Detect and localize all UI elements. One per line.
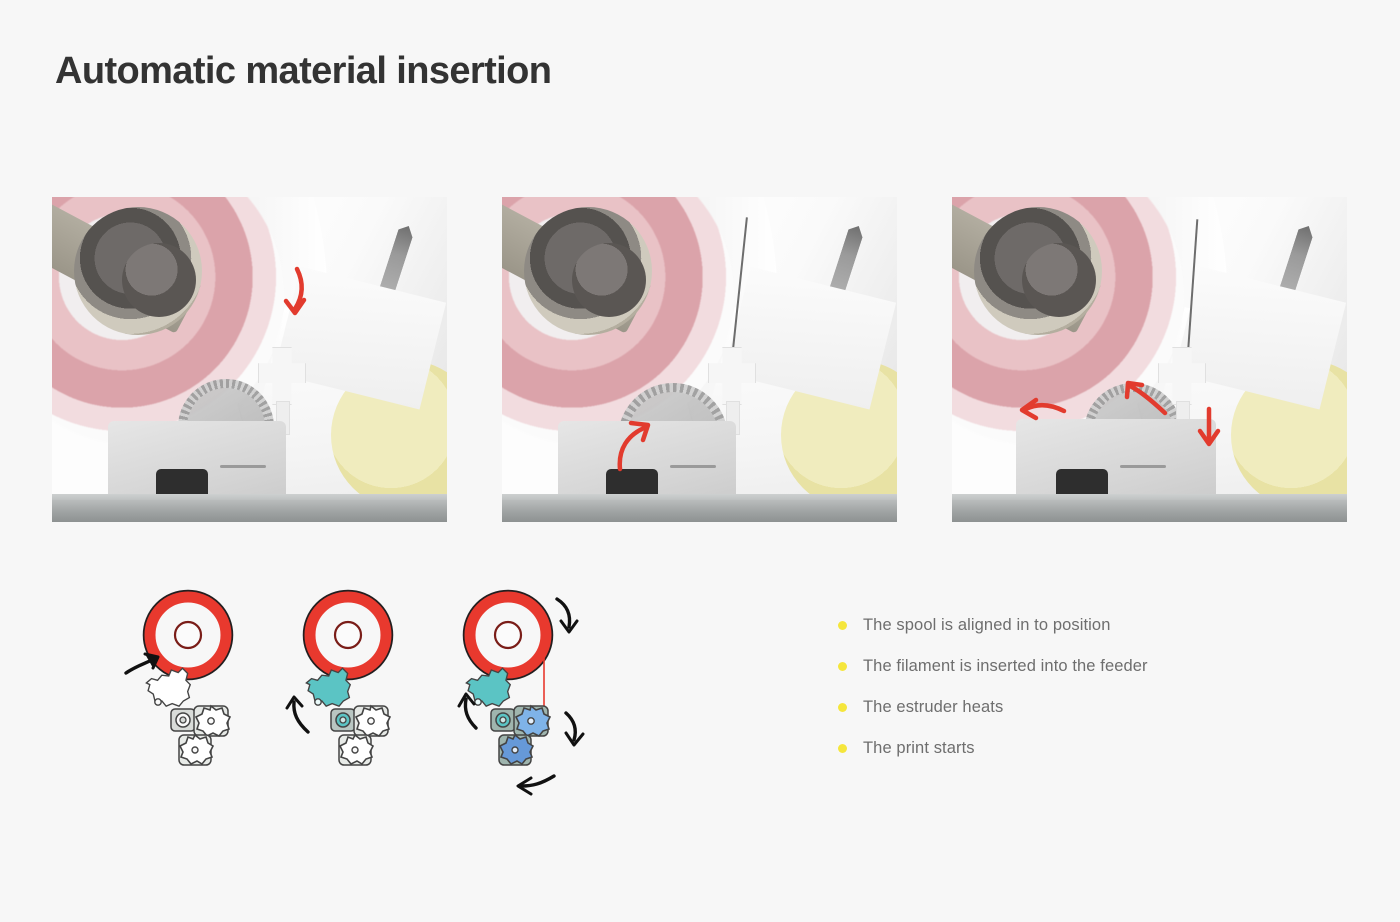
- arrow-down-right: [557, 599, 577, 632]
- arrow-into-spool: [126, 654, 158, 673]
- frame-rail-lower: [952, 500, 1347, 522]
- housing-slot: [1120, 465, 1166, 468]
- diagram-spool-aligned[interactable]: [120, 580, 270, 800]
- diagram-row: [120, 580, 640, 810]
- diagram-all-gears-active[interactable]: [440, 580, 640, 810]
- gear-feeder-3: [339, 735, 373, 765]
- page-title: Automatic material insertion: [55, 50, 551, 94]
- arrow-up-left: [287, 697, 308, 732]
- render-scene: [952, 197, 1347, 522]
- arrow-up-left: [459, 694, 476, 728]
- diagram-first-gear-active[interactable]: [280, 580, 430, 800]
- arrow-bottom-left: [518, 776, 554, 794]
- spool-hub-core: [122, 243, 196, 317]
- bullet-icon: [838, 662, 847, 671]
- step-label: The filament is inserted into the feeder: [863, 657, 1148, 676]
- render-scene: [502, 197, 897, 522]
- spool-hub: [974, 207, 1102, 335]
- list-item: The filament is inserted into the feeder: [838, 646, 1298, 687]
- steps-list: The spool is aligned in to position The …: [838, 605, 1298, 769]
- frame-rail-lower: [52, 500, 447, 522]
- spool-hub-hole: [335, 622, 361, 648]
- gear-feeder-3: [499, 735, 533, 765]
- gear-housing: [331, 709, 355, 731]
- arrow-curve-right-down: [566, 713, 583, 745]
- step-label: The print starts: [863, 739, 975, 758]
- photo-strip: [52, 197, 1348, 522]
- list-item: The estruder heats: [838, 687, 1298, 728]
- page-root: Automatic material insertion: [0, 0, 1400, 922]
- spool-hub-hole: [495, 622, 521, 648]
- frame-rail-lower: [502, 500, 897, 522]
- gear-feeder-2: [514, 706, 550, 736]
- bullet-icon: [838, 703, 847, 712]
- spool-hub-core: [1022, 243, 1096, 317]
- housing-slot: [220, 465, 266, 468]
- photo-panel-spool-aligned[interactable]: [52, 197, 447, 522]
- gear-feeder-2: [354, 706, 390, 736]
- bullet-icon: [838, 744, 847, 753]
- spool-hub: [74, 207, 202, 335]
- list-item: The spool is aligned in to position: [838, 605, 1298, 646]
- spool-hub: [524, 207, 652, 335]
- step-label: The estruder heats: [863, 698, 1003, 717]
- photo-panel-gears-engaged[interactable]: [952, 197, 1347, 522]
- gear-housing: [491, 709, 515, 731]
- gear-housing: [171, 709, 195, 731]
- gear-feeder-2: [194, 706, 230, 736]
- list-item: The print starts: [838, 728, 1298, 769]
- bullet-icon: [838, 621, 847, 630]
- housing-slot: [670, 465, 716, 468]
- spool-hub-hole: [175, 622, 201, 648]
- step-label: The spool is aligned in to position: [863, 616, 1111, 635]
- gear-feeder-3: [179, 735, 213, 765]
- spool-hub-core: [572, 243, 646, 317]
- photo-panel-filament-inserted[interactable]: [502, 197, 897, 522]
- render-scene: [52, 197, 447, 522]
